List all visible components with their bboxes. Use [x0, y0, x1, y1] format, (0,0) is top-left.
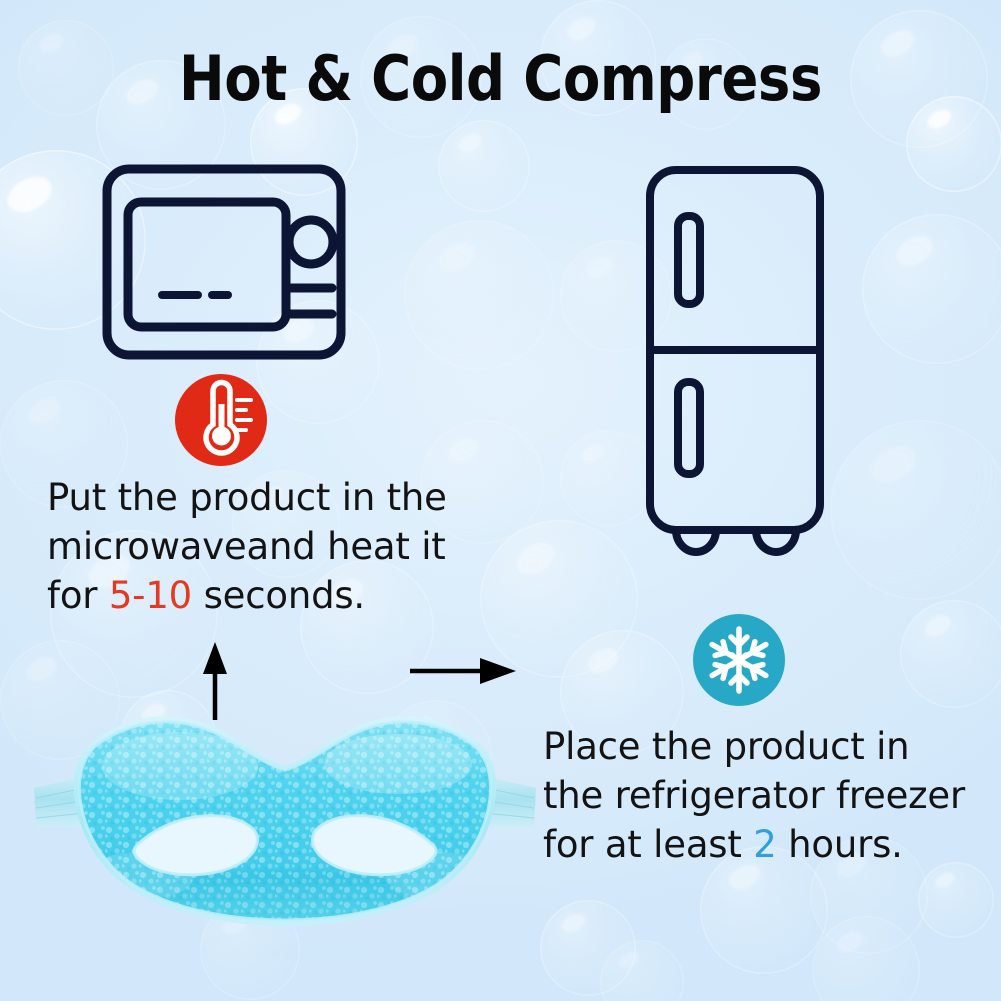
hot-instruction-text: Put the product in the microwaveand heat…: [47, 473, 467, 620]
mask-gel-body: [70, 706, 510, 936]
bubble: [862, 214, 1001, 364]
thermometer-badge: [175, 374, 267, 466]
page-title: Hot & Cold Compress: [60, 42, 941, 115]
bubble: [540, 900, 636, 996]
cold-instruction-text: Place the product in the refrigerator fr…: [543, 722, 981, 869]
bubble: [900, 600, 1001, 708]
bubble: [600, 940, 684, 1001]
bubble: [438, 120, 530, 212]
cold-text-after: hours.: [777, 823, 903, 866]
hot-duration-value: 5-10: [109, 574, 192, 617]
bubble: [918, 862, 994, 938]
microwave-icon: [100, 162, 348, 362]
mask-reflection: [74, 936, 496, 956]
refrigerator-icon: [640, 164, 830, 582]
thermometer-icon: [175, 374, 267, 466]
cold-duration-value: 2: [753, 823, 776, 866]
snowflake-icon: [693, 614, 785, 706]
bubble: [404, 220, 554, 370]
bubble: [812, 916, 920, 1001]
product-infographic: Hot & Cold Compress: [0, 0, 1001, 1001]
gel-eye-mask: [20, 706, 550, 956]
arrow-right-to-freezer-icon: [408, 648, 520, 694]
hot-text-after: seconds.: [192, 574, 365, 617]
snowflake-badge: [693, 614, 785, 706]
bubble: [830, 420, 1001, 600]
